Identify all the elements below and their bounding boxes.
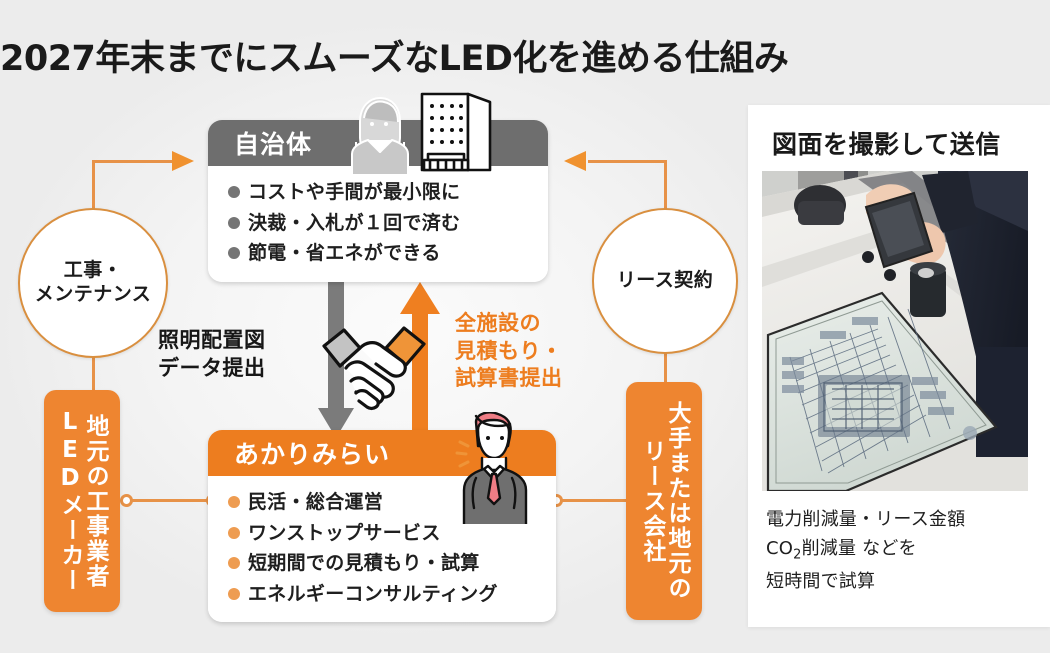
list-item-label: 決裁・入札が１回で済む (248, 209, 460, 238)
list-item-label: 短期間での見積もり・試算 (248, 549, 480, 578)
caption-line-1: 電力削減量・リース金額 (766, 505, 965, 534)
caption-co2-prefix: CO (766, 538, 793, 559)
card-akari-header: あかりみらい (208, 430, 556, 476)
list-item-label: コストや手間が最小限に (248, 178, 460, 207)
caption-co2-subscript: 2 (793, 548, 801, 563)
list-item: 短期間での見積もり・試算 (228, 549, 542, 578)
photo-caption: 電力削減量・リース金額 CO2削減量 などを 短時間で試算 (766, 505, 965, 596)
card-akari-mirai[interactable]: あかりみらい 民活・総合運営 ワンストップサービス 短期間での見積もり・試算 エ… (208, 430, 556, 622)
list-item: ワンストップサービス (228, 519, 542, 548)
list-item-label: エネルギーコンサルティング (248, 580, 498, 609)
bullet-dot-icon (228, 557, 240, 569)
circle-right-label: リース契約 (617, 269, 714, 293)
card-akari-title: あかりみらい (234, 435, 390, 471)
list-item-label: ワンストップサービス (248, 519, 441, 548)
bullet-dot-icon (228, 496, 240, 508)
card-local-government[interactable]: 自治体 コストや手間が最小限に 決裁・入札が１回で済む 節電・省エネができる (208, 120, 548, 282)
caption-line-2: CO2削減量 などを (766, 534, 965, 567)
list-item-label: 節電・省エネができる (248, 239, 441, 268)
card-akari-body: 民活・総合運営 ワンストップサービス 短期間での見積もり・試算 エネルギーコンサ… (208, 476, 556, 622)
photo-panel-title: 図面を撮影して送信 (772, 125, 1001, 161)
vbox-left-col2: LEDメーカー (58, 409, 81, 593)
vbox-left-col1: 地元の工事業者 (83, 414, 106, 589)
list-item: エネルギーコンサルティング (228, 580, 542, 609)
list-item: 民活・総合運営 (228, 488, 542, 517)
label-quotation-submission: 全施設の 見積もり・ 試算書提出 (455, 310, 563, 393)
list-item: 節電・省エネができる (228, 239, 534, 268)
card-gov-body: コストや手間が最小限に 決裁・入札が１回で済む 節電・省エネができる (208, 166, 548, 282)
bullet-dot-icon (228, 527, 240, 539)
label-lighting-layout-submission: 照明配置図 データ提出 (158, 327, 266, 382)
bullet-dot-icon (228, 186, 240, 198)
vbox-local-contractors[interactable]: 地元の工事業者 LEDメーカー (44, 390, 120, 612)
bullet-dot-icon (228, 217, 240, 229)
bullet-dot-icon (228, 247, 240, 259)
circle-construction-maintenance[interactable]: 工事・ メンテナンス (18, 208, 168, 358)
arrow-left-icon (558, 146, 588, 176)
infographic-canvas: 2027年末までにスムーズなLED化を進める仕組み (0, 0, 1050, 653)
vbox-lease-company[interactable]: 大手または地元の リース会社 (626, 382, 702, 620)
blueprint-photo (762, 171, 1028, 491)
circle-lease-contract[interactable]: リース契約 (592, 208, 738, 354)
caption-line-3: 短時間で試算 (766, 567, 965, 596)
list-item-label: 民活・総合運営 (248, 488, 383, 517)
handshake-icon (318, 318, 430, 414)
circle-left-label: 工事・ メンテナンス (35, 259, 152, 307)
card-gov-title: 自治体 (234, 125, 312, 161)
card-gov-header: 自治体 (208, 120, 548, 166)
page-title: 2027年末までにスムーズなLED化を進める仕組み (0, 30, 745, 81)
list-item: 決裁・入札が１回で済む (228, 209, 534, 238)
bullet-dot-icon (228, 588, 240, 600)
photo-panel: 図面を撮影して送信 (748, 105, 1050, 627)
vbox-right-col1: 大手または地元の (665, 401, 688, 601)
caption-co2-suffix: 削減量 などを (802, 538, 917, 559)
vbox-right-col2: リース会社 (640, 439, 663, 564)
arrow-right-icon (170, 146, 200, 176)
list-item: コストや手間が最小限に (228, 178, 534, 207)
